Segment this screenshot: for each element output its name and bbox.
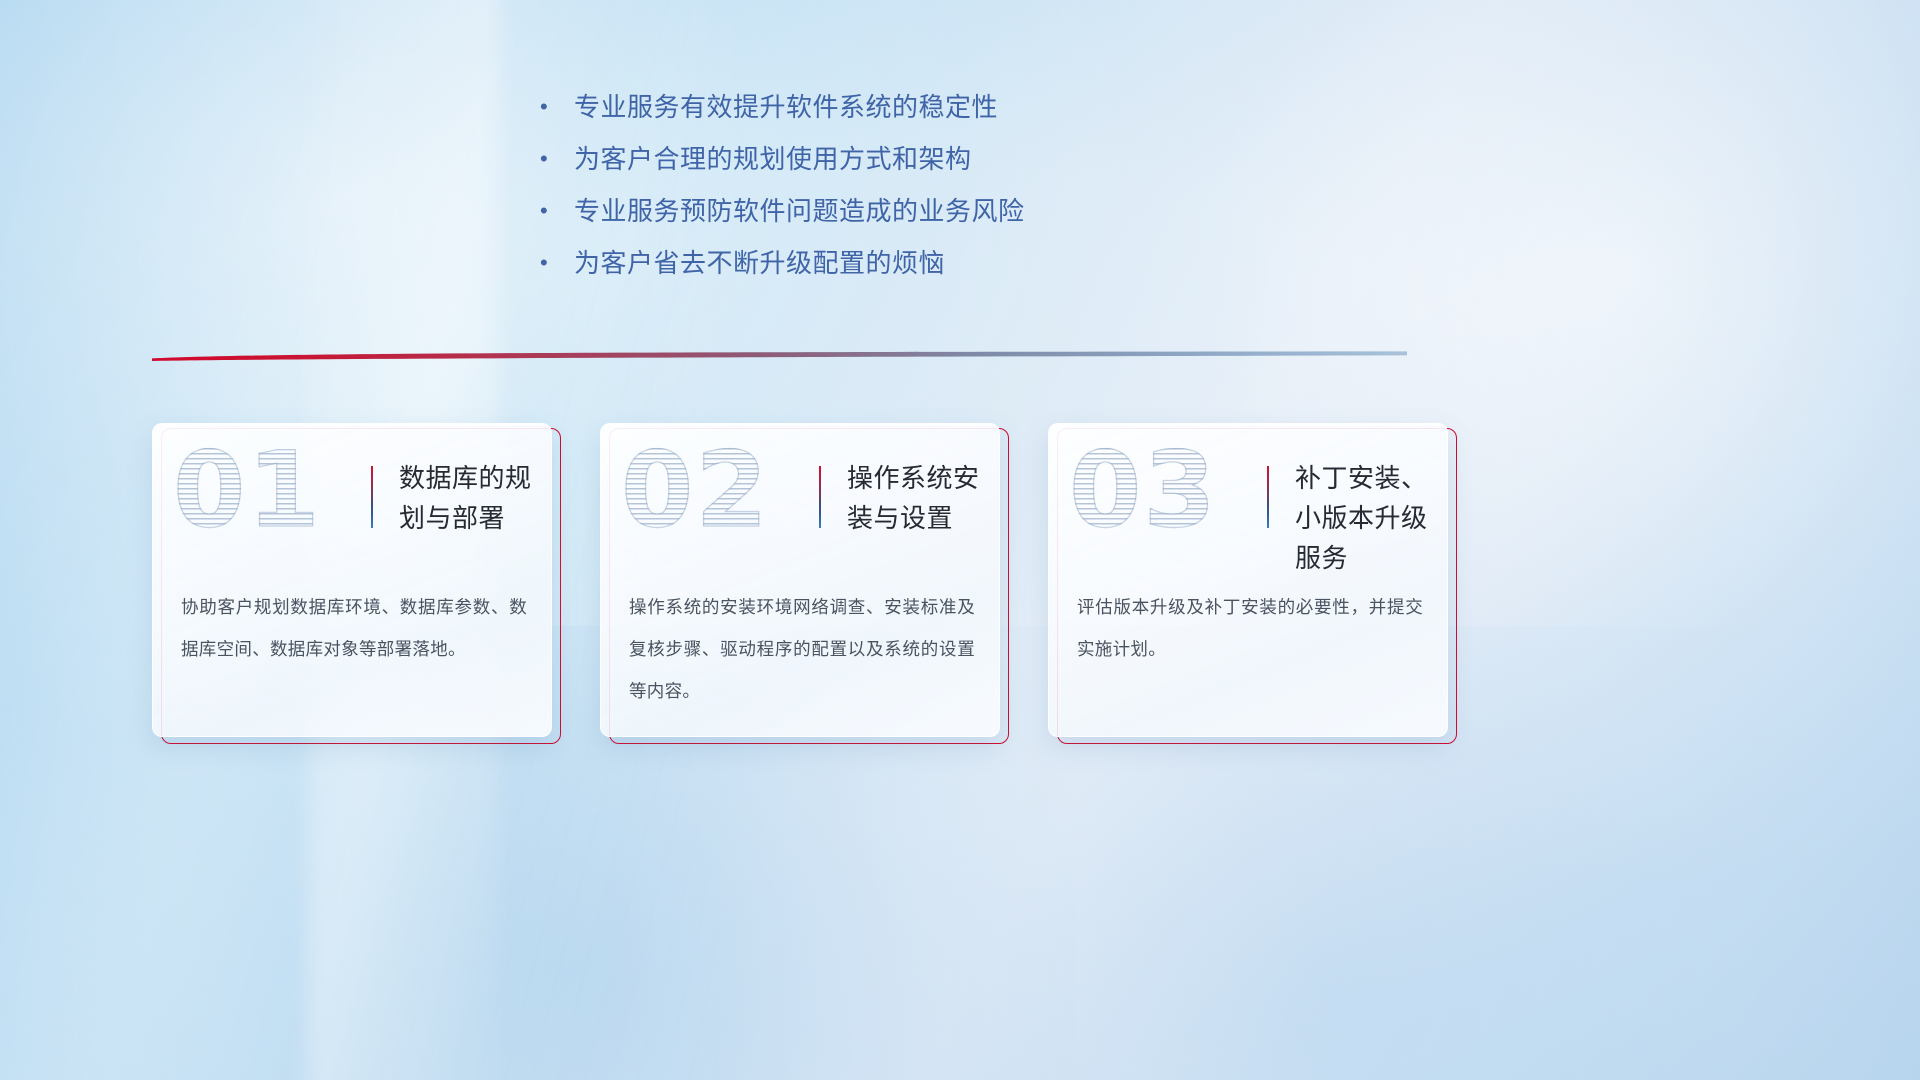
service-card[interactable]: 03 补丁安装、小版本升级服务 评估版本升级及补丁安装的必要性，并提交实施计划。	[1048, 423, 1452, 743]
service-cards-row: 01 数据库的规划与部署 协助客户规划数据库环境、数据库参数、数据库空间、数据库…	[152, 423, 1768, 745]
card-body-text: 评估版本升级及补丁安装的必要性，并提交实施计划。	[1077, 586, 1423, 670]
bullet-dot-icon: •	[540, 196, 574, 226]
card-surface: 01 数据库的规划与部署 协助客户规划数据库环境、数据库参数、数据库空间、数据库…	[152, 423, 552, 737]
bullet-label: 专业服务有效提升软件系统的稳定性	[574, 92, 998, 122]
card-divider-line	[371, 466, 373, 528]
card-body-text: 协助客户规划数据库环境、数据库参数、数据库空间、数据库对象等部署落地。	[181, 586, 527, 670]
card-surface: 03 补丁安装、小版本升级服务 评估版本升级及补丁安装的必要性，并提交实施计划。	[1048, 423, 1448, 737]
list-item: • 专业服务有效提升软件系统的稳定性	[540, 92, 1300, 144]
benefits-bullet-list: • 专业服务有效提升软件系统的稳定性 • 为客户合理的规划使用方式和架构 • 专…	[540, 92, 1300, 300]
card-divider-line	[819, 466, 821, 528]
bullet-label: 为客户省去不断升级配置的烦恼	[574, 248, 945, 278]
list-item: • 为客户合理的规划使用方式和架构	[540, 144, 1300, 196]
card-number: 03	[1069, 438, 1218, 542]
list-item: • 为客户省去不断升级配置的烦恼	[540, 248, 1300, 300]
tapered-accent-rule	[152, 351, 1407, 365]
card-title: 数据库的规划与部署	[399, 458, 549, 538]
bullet-label: 为客户合理的规划使用方式和架构	[574, 144, 972, 174]
bullet-dot-icon: •	[540, 248, 574, 278]
card-surface: 02 操作系统安装与设置 操作系统的安装环境网络调查、安装标准及复核步骤、驱动程…	[600, 423, 1000, 737]
card-body-text: 操作系统的安装环境网络调查、安装标准及复核步骤、驱动程序的配置以及系统的设置等内…	[629, 586, 975, 712]
list-item: • 专业服务预防软件问题造成的业务风险	[540, 196, 1300, 248]
service-card[interactable]: 02 操作系统安装与设置 操作系统的安装环境网络调查、安装标准及复核步骤、驱动程…	[600, 423, 1004, 743]
card-number: 02	[621, 438, 770, 542]
card-header: 03 补丁安装、小版本升级服务	[1049, 424, 1447, 564]
card-number: 01	[173, 438, 322, 542]
card-divider-line	[1267, 466, 1269, 528]
card-header: 02 操作系统安装与设置	[601, 424, 999, 564]
card-title: 操作系统安装与设置	[847, 458, 997, 538]
service-card[interactable]: 01 数据库的规划与部署 协助客户规划数据库环境、数据库参数、数据库空间、数据库…	[152, 423, 556, 743]
bullet-dot-icon: •	[540, 92, 574, 122]
card-header: 01 数据库的规划与部署	[153, 424, 551, 564]
bullet-dot-icon: •	[540, 144, 574, 174]
bullet-label: 专业服务预防软件问题造成的业务风险	[574, 196, 1025, 226]
card-title: 补丁安装、小版本升级服务	[1295, 458, 1445, 578]
